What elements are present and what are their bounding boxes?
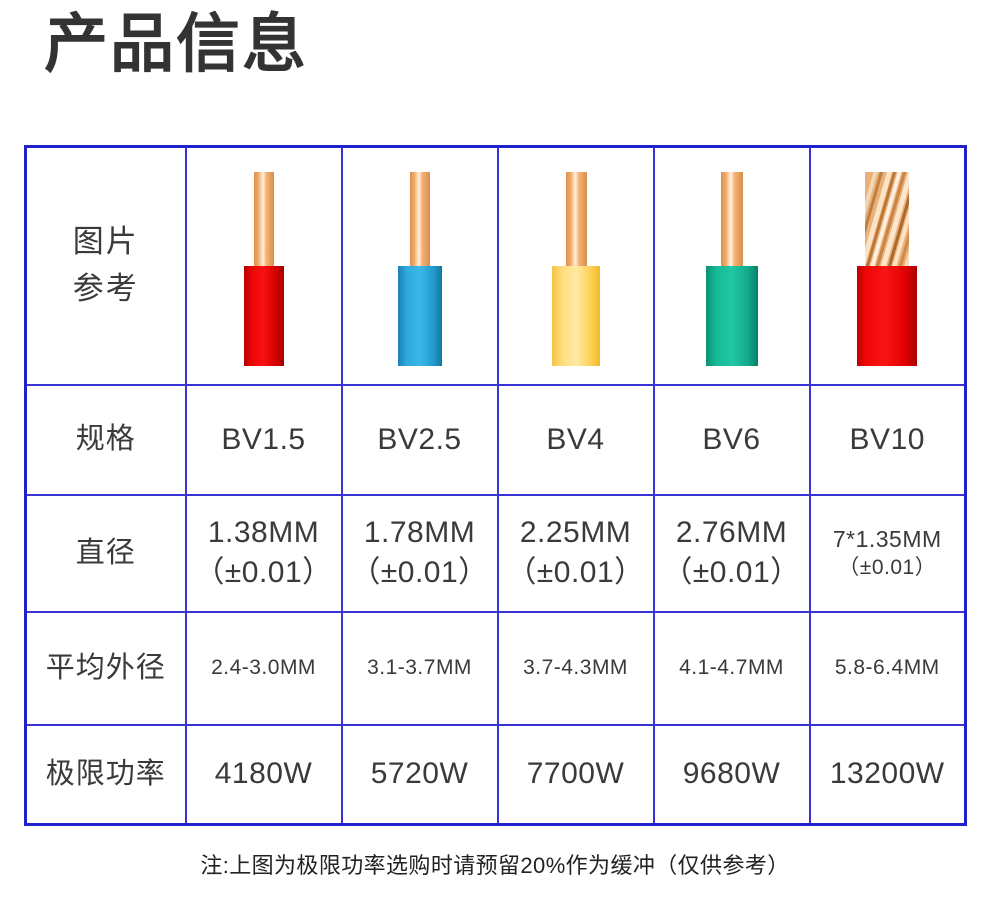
page-title: 产品信息 (44, 8, 308, 82)
footnote: 注:上图为极限功率选购时请预留20%作为缓冲（仅供参考） (0, 848, 990, 880)
table-row-diameter: 直径 1.38MM （±0.01） 1.78MM （±0.01） 2.25MM … (26, 495, 966, 612)
cell-diameter-bv10: 7*1.35MM （±0.01） (810, 495, 966, 612)
cell-outer-bv6: 4.1-4.7MM (654, 612, 810, 725)
cell-spec-bv1-5: BV1.5 (186, 385, 342, 495)
row-label-average-outer-diameter: 平均外径 (26, 612, 186, 725)
table-row-limit-power: 极限功率 4180W 5720W 7700W 9680W 13200W (26, 725, 966, 825)
diameter-tolerance: （±0.01） (343, 553, 497, 593)
cell-power-bv1-5: 4180W (186, 725, 342, 825)
cell-outer-bv1-5: 2.4-3.0MM (186, 612, 342, 725)
diameter-value: 7*1.35MM (811, 524, 965, 554)
row-label-line-1: 图片 (27, 219, 185, 266)
table-row-average-outer-diameter: 平均外径 2.4-3.0MM 3.1-3.7MM 3.7-4.3MM 4.1-4… (26, 612, 966, 725)
diameter-value: 1.38MM (187, 513, 341, 553)
row-label-image-reference: 图片 参考 (26, 147, 186, 385)
cell-image-bv1-5 (186, 147, 342, 385)
diameter-tolerance: （±0.01） (187, 553, 341, 593)
diameter-value: 1.78MM (343, 513, 497, 553)
cell-spec-bv2-5: BV2.5 (342, 385, 498, 495)
cell-diameter-bv2-5: 1.78MM （±0.01） (342, 495, 498, 612)
cell-spec-bv6: BV6 (654, 385, 810, 495)
cell-power-bv6: 9680W (654, 725, 810, 825)
cell-diameter-bv4: 2.25MM （±0.01） (498, 495, 654, 612)
cell-spec-bv10: BV10 (810, 385, 966, 495)
row-label-line-2: 参考 (27, 266, 185, 313)
diameter-tolerance: （±0.01） (499, 553, 653, 593)
diameter-tolerance: （±0.01） (811, 554, 965, 582)
wire-stranded-red-icon (849, 166, 925, 366)
product-spec-table: 图片 参考 (24, 145, 967, 826)
row-label-diameter: 直径 (26, 495, 186, 612)
cell-spec-bv4: BV4 (498, 385, 654, 495)
diameter-value: 2.76MM (655, 513, 809, 553)
cell-power-bv10: 13200W (810, 725, 966, 825)
row-label-limit-power: 极限功率 (26, 725, 186, 825)
diameter-tolerance: （±0.01） (655, 553, 809, 593)
row-label-specification: 规格 (26, 385, 186, 495)
table-row-specification: 规格 BV1.5 BV2.5 BV4 BV6 BV10 (26, 385, 966, 495)
wire-solid-blue-icon (390, 166, 450, 366)
cell-diameter-bv6: 2.76MM （±0.01） (654, 495, 810, 612)
cell-outer-bv10: 5.8-6.4MM (810, 612, 966, 725)
wire-solid-green-icon (698, 166, 766, 366)
cell-outer-bv2-5: 3.1-3.7MM (342, 612, 498, 725)
cell-image-bv4 (498, 147, 654, 385)
wire-solid-yellow-icon (544, 166, 608, 366)
cell-image-bv2-5 (342, 147, 498, 385)
cell-image-bv10 (810, 147, 966, 385)
wire-solid-red-icon (236, 166, 292, 366)
cell-image-bv6 (654, 147, 810, 385)
cell-diameter-bv1-5: 1.38MM （±0.01） (186, 495, 342, 612)
diameter-value: 2.25MM (499, 513, 653, 553)
cell-outer-bv4: 3.7-4.3MM (498, 612, 654, 725)
table-row-image-reference: 图片 参考 (26, 147, 966, 385)
cell-power-bv4: 7700W (498, 725, 654, 825)
cell-power-bv2-5: 5720W (342, 725, 498, 825)
